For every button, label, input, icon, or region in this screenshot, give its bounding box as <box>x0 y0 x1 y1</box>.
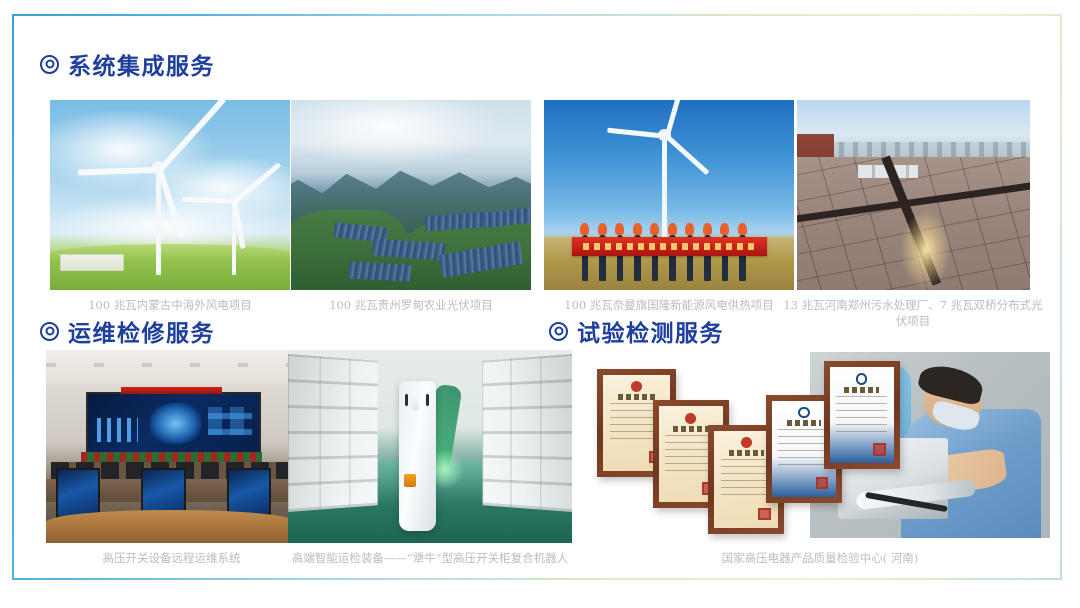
national-emblem-icon <box>741 437 752 448</box>
accreditation-logo-icon <box>856 373 867 384</box>
cabinet-panel-details <box>482 354 572 512</box>
section-title-text: 运维检修服务 <box>68 314 215 348</box>
red-celebration-banner <box>572 237 767 256</box>
certificate-paper <box>830 367 894 463</box>
control-room-photo <box>46 350 297 543</box>
double-circle-icon <box>549 322 568 341</box>
flower-row <box>81 452 262 462</box>
certificate-red-seal <box>816 477 829 489</box>
wind-farm-green-hill-photo <box>50 100 290 290</box>
emergency-stop-button <box>404 474 415 488</box>
rooftop-solar-array-photo <box>797 100 1030 290</box>
turbine-blade-2 <box>607 128 667 139</box>
section-title-text: 系统集成服务 <box>68 47 215 81</box>
inspection-robot-body <box>399 381 436 532</box>
certificate-title-line <box>787 420 822 426</box>
photo-caption: 国家高压电器产品质量检验中心( 河南) <box>600 550 1040 566</box>
cabinet-panel-details <box>288 354 378 512</box>
section-title-text: 试验检测服务 <box>577 314 724 348</box>
national-emblem-icon <box>685 413 696 424</box>
wind-turbine-ceremony-banner-photo <box>544 100 794 290</box>
robot-camera-left <box>405 394 408 406</box>
certificate-title-line <box>729 450 764 456</box>
photo-caption: 100 兆瓦内蒙古中海外风电项目 <box>50 297 290 313</box>
turbine-blade-3 <box>665 135 709 175</box>
turbine-tower <box>662 134 667 244</box>
turbine-blade-2 <box>79 167 161 176</box>
section-heading-ops-maintenance: 运维检修服务 <box>40 314 215 348</box>
photo-caption-line2: 伏项目 <box>896 314 931 328</box>
certificate-plaque-5 <box>824 361 900 469</box>
certificate-title-line <box>618 394 654 400</box>
operator-monitor-1 <box>56 468 100 518</box>
switchgear-cabinets-right <box>482 354 572 512</box>
screen-kpi-cards <box>208 407 252 435</box>
certificate-red-seal <box>758 508 771 521</box>
video-wall-display <box>86 392 261 454</box>
certificate-body-lines <box>836 396 887 432</box>
turbine-blade-3 <box>158 168 186 238</box>
photo-caption: 100 兆瓦奈曼旗国隆新能源风电供热项目 <box>524 297 814 313</box>
certificate-body-lines <box>778 429 829 465</box>
mountain-solar-farm-photo <box>291 100 531 290</box>
certificate-red-seal <box>873 443 886 455</box>
switchgear-cabinets-left <box>288 354 378 512</box>
certificate-title-line <box>844 387 879 393</box>
room-ceiling <box>46 350 297 385</box>
double-circle-icon <box>40 322 59 341</box>
sun-glare-reflection <box>900 210 951 290</box>
robot-head <box>412 393 419 411</box>
robot-camera-right <box>426 394 429 406</box>
screen-bar-chart <box>97 418 138 442</box>
red-title-banner <box>121 387 221 395</box>
accreditation-logo-icon <box>798 407 809 418</box>
certificate-title-line <box>673 426 708 432</box>
certificates-and-lab-technician-photo <box>588 352 1050 538</box>
photo-caption: 高端智能运检装备——“犟牛”型高压开关柜复合机器人 <box>278 550 582 566</box>
site-signboard <box>60 254 124 271</box>
turbine-blade-1 <box>664 100 687 137</box>
certificate-body-lines <box>721 459 772 496</box>
section-heading-system-integration: 系统集成服务 <box>40 47 215 81</box>
photo-caption: 高压开关设备远程运维系统 <box>46 550 297 566</box>
photo-caption: 100 兆瓦贵州罗甸农业光伏项目 <box>291 297 531 313</box>
turbine-second-blade-2 <box>182 197 235 203</box>
wood-console-table <box>46 510 297 543</box>
turbine-second-blade-1 <box>233 162 280 203</box>
section-heading-testing-inspection: 试验检测服务 <box>549 314 724 348</box>
screen-china-map <box>150 403 201 445</box>
photo-caption-line1: 13 兆瓦河南郑州污水处理厂、7 兆瓦双桥分布式光 <box>783 298 1042 312</box>
slide-page: 系统集成服务 <box>0 0 1080 608</box>
switchgear-inspection-robot-photo <box>288 350 572 543</box>
double-circle-icon <box>40 55 59 74</box>
photo-caption: 13 兆瓦河南郑州污水处理厂、7 兆瓦双桥分布式光 伏项目 <box>780 297 1046 329</box>
turbine-blade-1 <box>158 100 227 172</box>
national-emblem-icon <box>631 381 643 392</box>
